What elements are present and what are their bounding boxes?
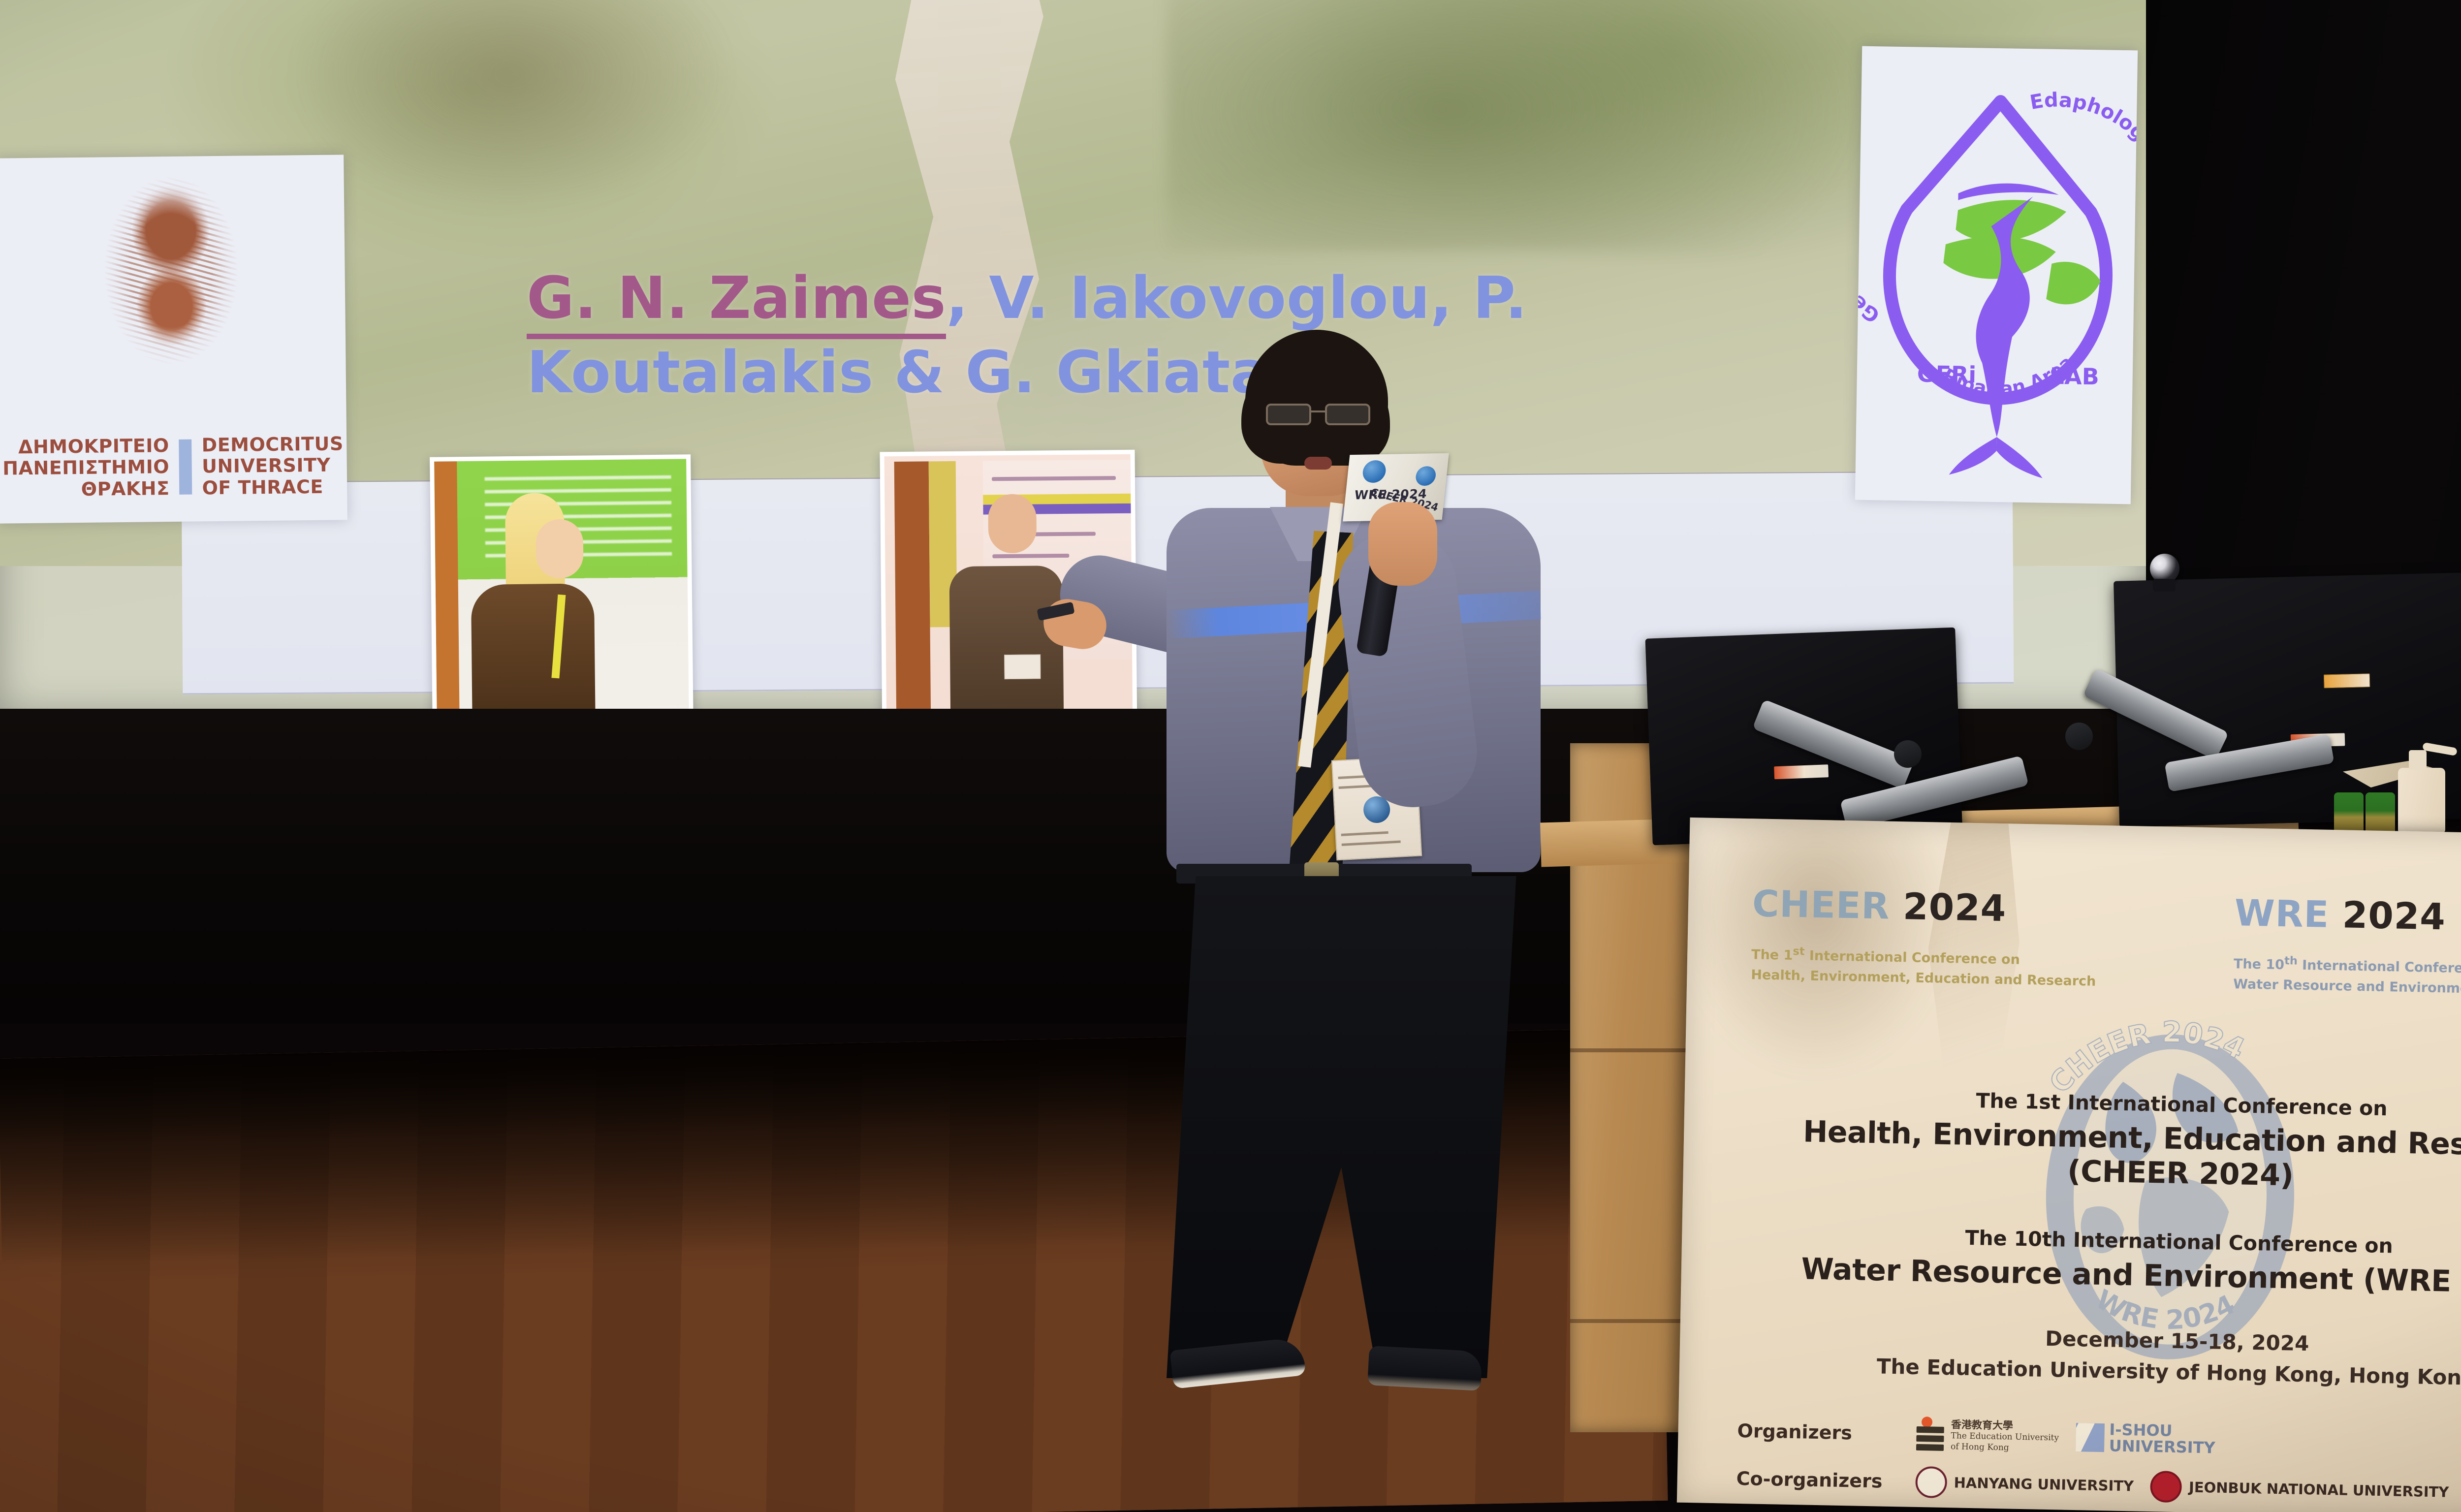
monitor-arm-joint-1 bbox=[1894, 740, 1922, 768]
democritus-wordmark: ΔΗΜΟΚΡΙΤΕΙΟ ΠΑΝΕΠΙΣΤΗΜΙΟ ΘΡΑΚΗΣ DEMOCRIT… bbox=[0, 433, 347, 501]
wre-header-block: WRE 2024 The 10th International Conferen… bbox=[2233, 892, 2461, 1002]
mic-globe-icon-side bbox=[1415, 466, 1436, 486]
cheer-title-name: CHEER bbox=[1752, 882, 1890, 927]
democritus-bust-icon bbox=[89, 174, 253, 387]
mic-globe-icon-front bbox=[1362, 460, 1387, 483]
democritus-greek-name: ΔΗΜΟΚΡΙΤΕΙΟ ΠΑΝΕΠΙΣΤΗΜΙΟ ΘΡΑΚΗΣ bbox=[2, 435, 170, 501]
inset-b-head bbox=[988, 494, 1037, 553]
cheer-header-block: CHEER 2024 The 1st International Confere… bbox=[1751, 882, 2137, 992]
slide-author-highlight: G. N. Zaimes bbox=[527, 264, 946, 339]
wre-subtitle: The 10th International Conference on Wat… bbox=[2233, 952, 2461, 1002]
coorganizers-label: Co-organizers bbox=[1736, 1468, 1899, 1492]
eduhk-mark-icon bbox=[1916, 1418, 1944, 1450]
jeonbuk-name: JEONBUK NATIONAL UNIVERSITY bbox=[2189, 1479, 2449, 1500]
geri-lab-droplet-icon: Geomorphology Edaphology GERi LAB Ripari… bbox=[1855, 46, 2138, 504]
speaker-hair bbox=[1245, 330, 1388, 448]
jeonbuk-seal-icon bbox=[2150, 1471, 2182, 1503]
eduhk-logo: 香港教育大學 The Education University of Hong … bbox=[1916, 1417, 2059, 1454]
slide-hillside-right bbox=[1167, 0, 1856, 251]
organizers-label: Organizers bbox=[1737, 1420, 1900, 1445]
eduhk-name-en-1: The Education University bbox=[1951, 1431, 2059, 1443]
cheer-title: CHEER 2024 bbox=[1752, 882, 2137, 932]
speaker-right-shoe bbox=[1367, 1346, 1483, 1391]
inset-a-body bbox=[471, 583, 595, 719]
cheer-subtitle: The 1st International Conference on Heal… bbox=[1751, 943, 2136, 992]
slide-hillside-left bbox=[290, 0, 733, 212]
geri-lab-logo-card: Geomorphology Edaphology GERi LAB Ripari… bbox=[1855, 46, 2138, 504]
conference-photo-scene: G. N. Zaimes, V. Iakovoglou, P. Koutalak… bbox=[0, 0, 2461, 1512]
hanyang-logo: HANYANG UNIVERSITY bbox=[1915, 1466, 2134, 1502]
svg-text:Geomorphology: Geomorphology bbox=[1855, 149, 1887, 327]
speaker-glasses bbox=[1263, 404, 1373, 421]
podium-conference-sign: CHEER 2024 WRE 2024 CHEER 2024 The 1st I… bbox=[1677, 818, 2461, 1512]
democritus-university-logo-card: ΔΗΜΟΚΡΙΤΕΙΟ ΠΑΝΕΠΙΣΤΗΜΙΟ ΘΡΑΚΗΣ DEMOCRIT… bbox=[0, 155, 347, 523]
speaker-right-hand bbox=[1368, 502, 1437, 586]
eduhk-name-en-2: of Hong Kong bbox=[1951, 1442, 2009, 1452]
hanyang-name: HANYANG UNIVERSITY bbox=[1954, 1474, 2134, 1494]
inset-b-badge bbox=[1004, 654, 1041, 679]
monitor-right-label-sticker bbox=[2324, 673, 2370, 688]
webcam-mount bbox=[2153, 579, 2176, 592]
conference-location: The Education University of Hong Kong, H… bbox=[1714, 1351, 2461, 1393]
speaker-mouth bbox=[1304, 457, 1332, 470]
geri-label-geomorphology: Geomorphology bbox=[1855, 149, 1887, 327]
podium-sign-body: The 1st International Conference on Heal… bbox=[1715, 1084, 2461, 1303]
ishou-mark-icon bbox=[2076, 1423, 2105, 1452]
inset-b-body bbox=[949, 566, 1064, 714]
eduhk-name-zh: 香港教育大學 bbox=[1951, 1418, 2059, 1433]
hanyang-seal-icon bbox=[1915, 1466, 1947, 1498]
slide-author-rest: , V. Iakovoglou, P. bbox=[946, 264, 1527, 332]
inset-b-column bbox=[894, 462, 931, 719]
organizers-section: Organizers 香港教育大學 The Education Universi… bbox=[1736, 1414, 2461, 1512]
wre-title-year: 2024 bbox=[2342, 894, 2446, 938]
inset-a-podium bbox=[434, 461, 460, 719]
cheer-title-year: 2024 bbox=[1902, 885, 2007, 930]
hand-sanitizer-bottle bbox=[2398, 768, 2445, 833]
speaker-legs bbox=[1167, 876, 1531, 1378]
monitor-warning-sticker bbox=[1774, 764, 1829, 779]
organizers-row: Organizers 香港教育大學 The Education Universi… bbox=[1737, 1414, 2461, 1465]
inset-a-face bbox=[536, 519, 583, 579]
ishou-name-2: UNIVERSITY bbox=[2109, 1438, 2215, 1457]
ishou-logo: I-SHOU UNIVERSITY bbox=[2075, 1421, 2215, 1457]
democritus-english-name: DEMOCRITUS UNIVERSITY OF THRACE bbox=[201, 433, 344, 499]
wre-title: WRE 2024 bbox=[2234, 892, 2461, 942]
inset-photo-woman-presenting bbox=[430, 454, 694, 719]
wre-title-name: WRE bbox=[2234, 892, 2330, 936]
podium-sign-date-location: December 15-18, 2024 The Education Unive… bbox=[1714, 1320, 2461, 1393]
jeonbuk-logo: JEONBUK NATIONAL UNIVERSITY bbox=[2150, 1471, 2449, 1508]
podium-sign-header: CHEER 2024 The 1st International Confere… bbox=[1751, 882, 2461, 1002]
monitor-arm-joint-2 bbox=[2065, 723, 2093, 750]
democritus-divider-bar bbox=[179, 440, 192, 495]
coorganizers-row: Co-organizers HANYANG UNIVERSITY JEONBUK… bbox=[1736, 1463, 2461, 1512]
sanitizer-pump bbox=[2409, 750, 2427, 770]
